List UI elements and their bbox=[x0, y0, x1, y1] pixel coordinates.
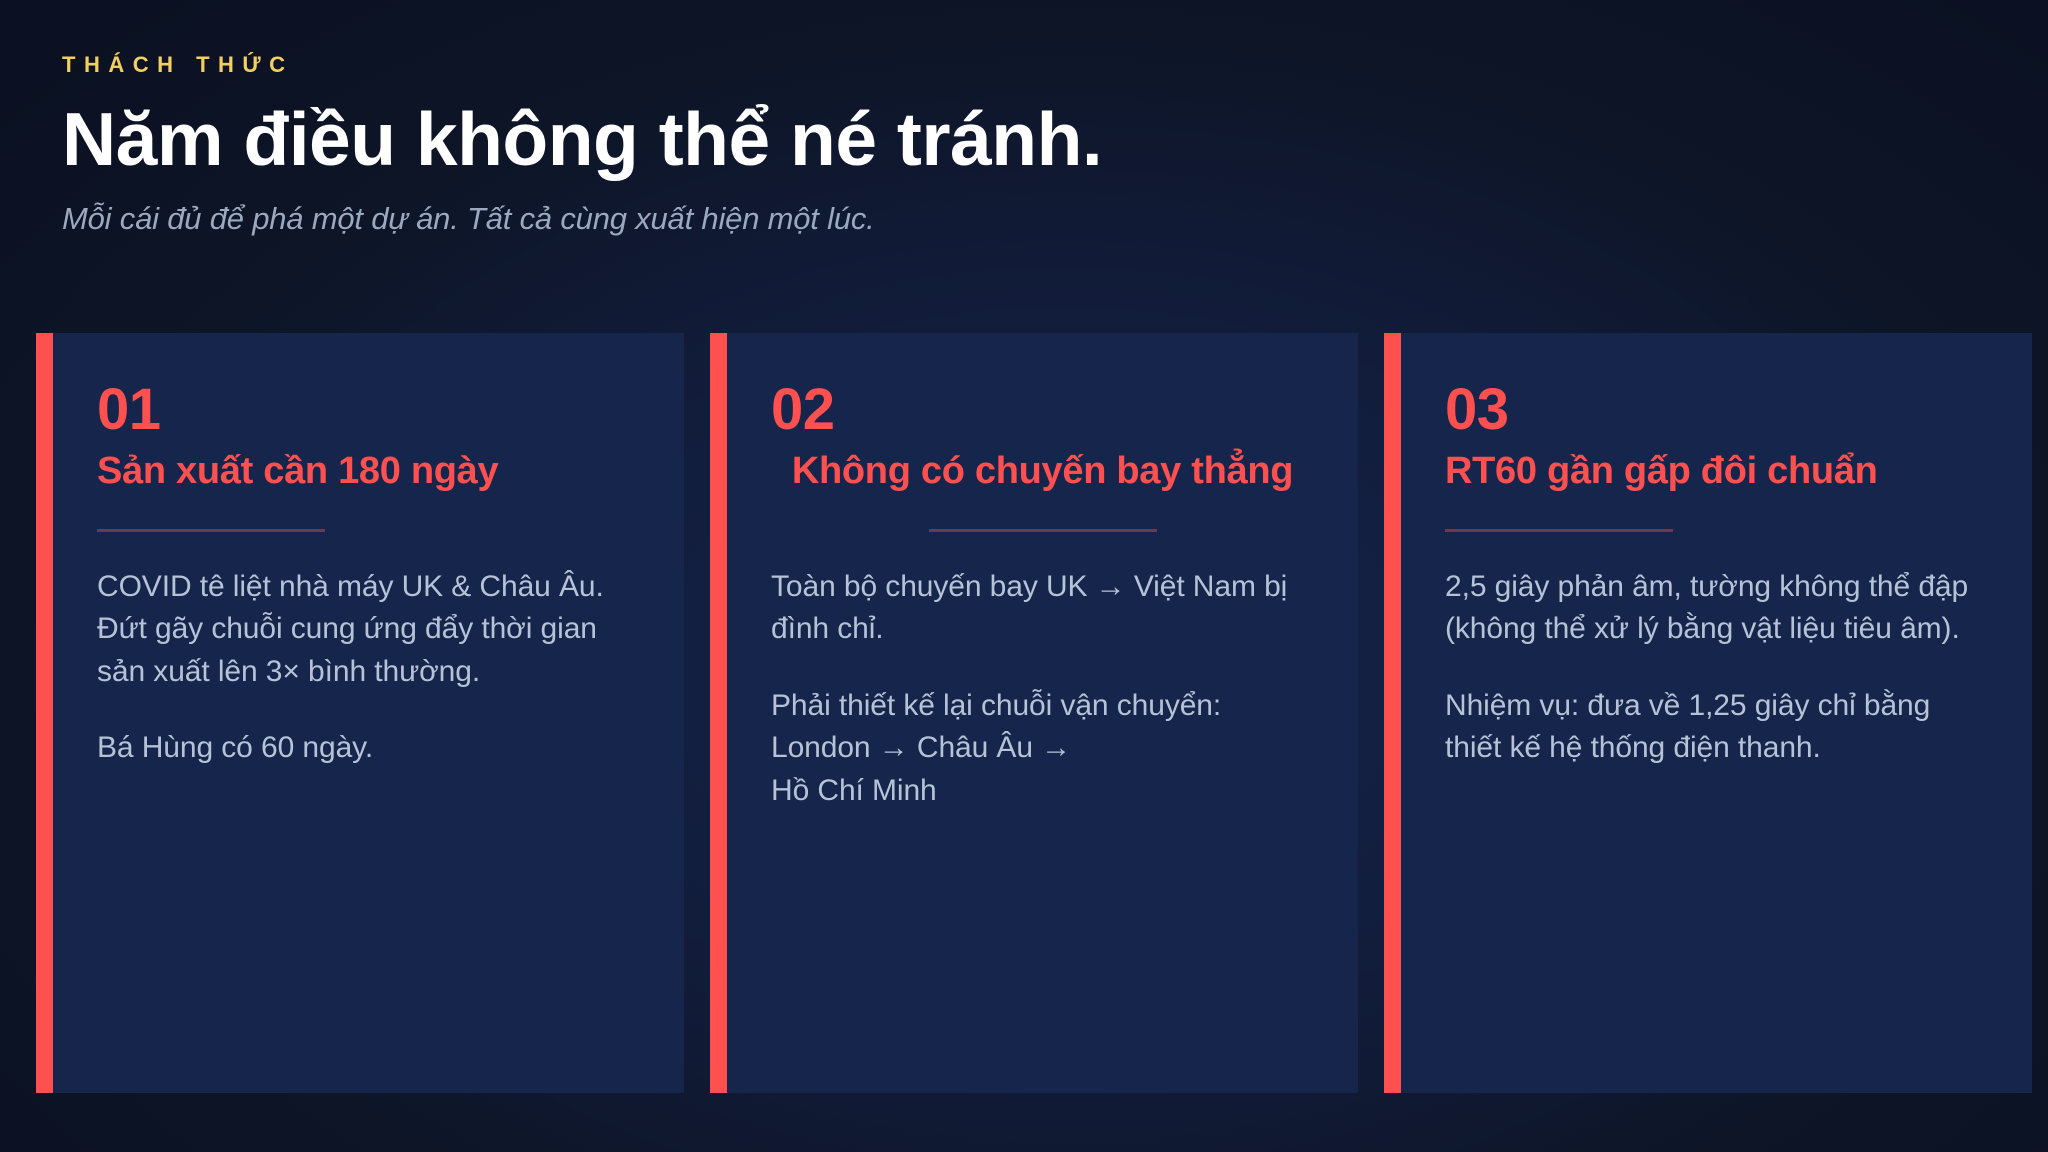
slide-header: THÁCH THỨC Năm điều không thể né tránh. … bbox=[62, 52, 1662, 237]
card-title: Sản xuất cần 180 ngày bbox=[97, 449, 640, 495]
card-title: RT60 gần gấp đôi chuẩn bbox=[1445, 449, 1988, 495]
card-paragraph: COVID tê liệt nhà máy UK & Châu Âu. Đứt … bbox=[97, 566, 640, 694]
card-number: 03 bbox=[1445, 381, 1988, 439]
challenge-card-list: 01Sản xuất cần 180 ngàyCOVID tê liệt nhà… bbox=[36, 333, 2048, 1093]
section-eyebrow: THÁCH THỨC bbox=[62, 52, 1662, 78]
card-divider bbox=[929, 529, 1157, 532]
card-divider bbox=[97, 529, 325, 532]
challenge-card: 02Không có chuyến bay thẳngToàn bộ chuyế… bbox=[710, 333, 1358, 1093]
slide-canvas: THÁCH THỨC Năm điều không thể né tránh. … bbox=[0, 0, 2048, 1152]
card-paragraph: Nhiệm vụ: đưa về 1,25 giây chỉ bằng thiế… bbox=[1445, 685, 1988, 770]
card-paragraph: Toàn bộ chuyến bay UK → Việt Nam bị đình… bbox=[771, 566, 1314, 651]
card-body: Toàn bộ chuyến bay UK → Việt Nam bị đình… bbox=[771, 566, 1314, 813]
card-paragraph: Bá Hùng có 60 ngày. bbox=[97, 727, 640, 770]
card-body: COVID tê liệt nhà máy UK & Châu Âu. Đứt … bbox=[97, 566, 640, 770]
challenge-card: 01Sản xuất cần 180 ngàyCOVID tê liệt nhà… bbox=[36, 333, 684, 1093]
card-title: Không có chuyến bay thẳng bbox=[771, 449, 1314, 495]
card-body: 2,5 giây phản âm, tường không thể đập (k… bbox=[1445, 566, 1988, 770]
card-divider bbox=[1445, 529, 1673, 532]
page-title: Năm điều không thể né tránh. bbox=[62, 100, 1662, 179]
card-paragraph: Phải thiết kế lại chuỗi vận chuyển: Lond… bbox=[771, 685, 1314, 813]
challenge-card: 03RT60 gần gấp đôi chuẩn2,5 giây phản âm… bbox=[1384, 333, 2032, 1093]
card-number: 02 bbox=[771, 381, 1314, 439]
page-subtitle: Mỗi cái đủ để phá một dự án. Tất cả cùng… bbox=[62, 201, 1662, 237]
card-number: 01 bbox=[97, 381, 640, 439]
card-paragraph: 2,5 giây phản âm, tường không thể đập (k… bbox=[1445, 566, 1988, 651]
